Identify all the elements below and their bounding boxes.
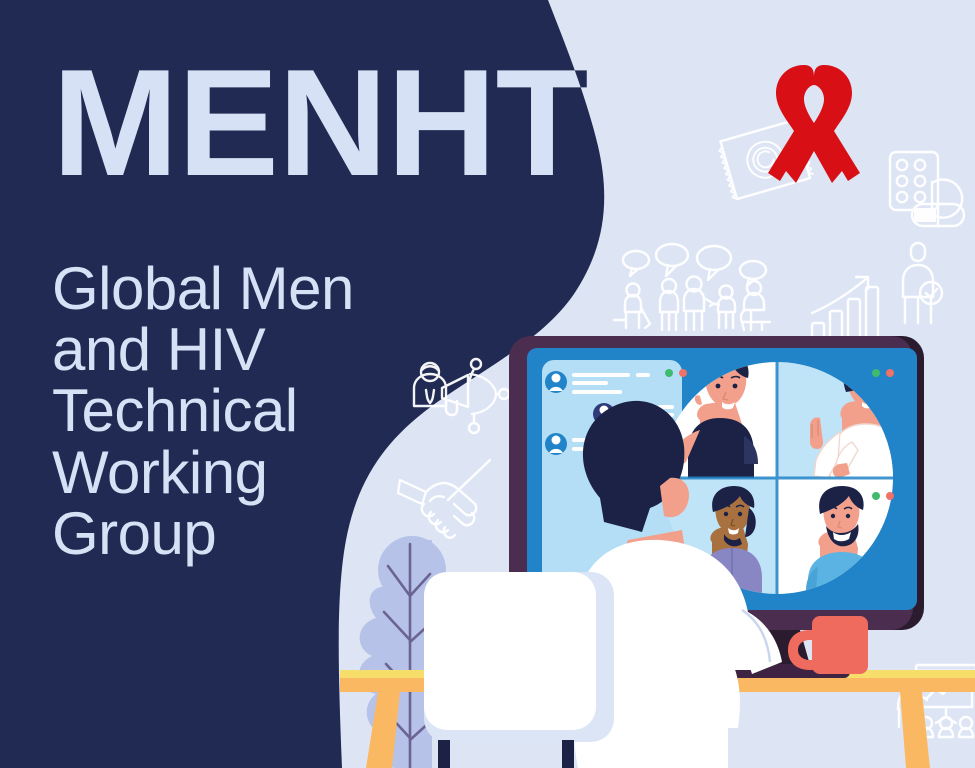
- office-chair: [424, 572, 614, 768]
- menht-banner: MENHT MENHT Global Men and HIV Technical…: [0, 0, 975, 768]
- chair-leg-right: [562, 740, 574, 768]
- chair-leg-left: [438, 740, 450, 768]
- video-conference-illustration: [0, 0, 975, 768]
